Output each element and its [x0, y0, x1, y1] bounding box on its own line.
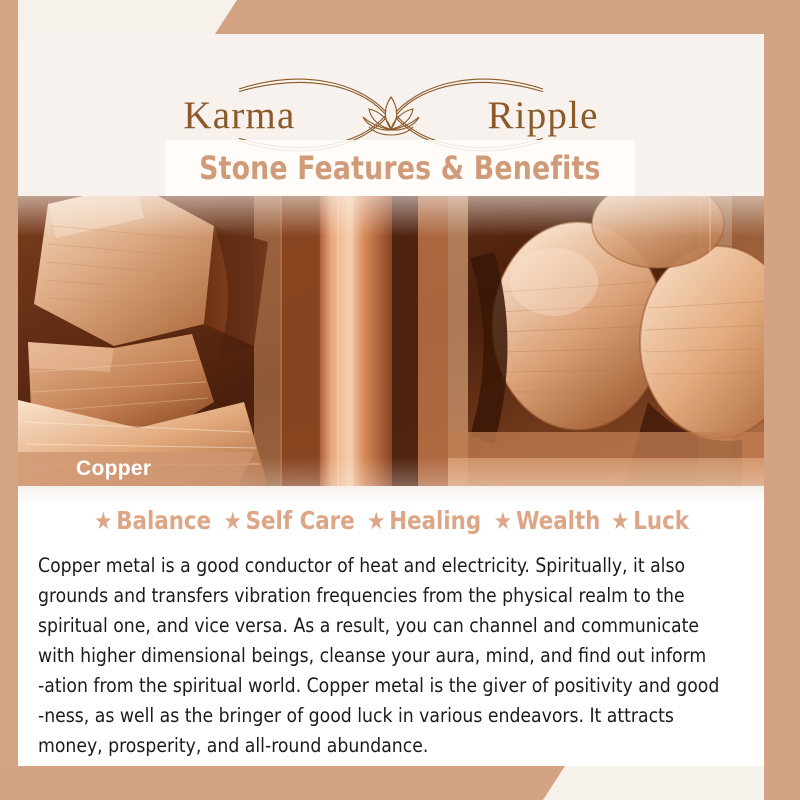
feature-label: Luck: [633, 506, 689, 535]
description-line: with higher dimensional beings, cleanse …: [38, 641, 735, 671]
brand-name: Karma Ripple: [181, 93, 601, 138]
product-info-card: Karma Ripple Stone Features & Benefits: [0, 0, 800, 800]
frame-bottom-accent: [0, 766, 565, 800]
description-line: Copper metal is a good conductor of heat…: [38, 551, 735, 581]
feature-item: ★ Luck: [611, 506, 689, 535]
description-line: grounds and transfers vibration frequenc…: [38, 581, 735, 611]
section-title-banner: Stone Features & Benefits: [165, 140, 635, 196]
feature-label: Healing: [390, 506, 482, 535]
feature-item: ★ Wealth: [493, 506, 600, 535]
star-icon: ★: [493, 509, 511, 533]
feature-label: Self Care: [246, 506, 355, 535]
star-icon: ★: [611, 509, 629, 533]
stone-name-label: Copper: [76, 457, 151, 481]
frame-top-accent: [215, 0, 800, 34]
frame-left-accent: [0, 0, 18, 800]
content-top-fade: [18, 486, 764, 504]
description-line: spiritual one, and vice versa. As a resu…: [38, 611, 735, 641]
feature-item: ★ Balance: [94, 506, 211, 535]
brand-name-second: Ripple: [487, 93, 598, 138]
description-text: Copper metal is a good conductor of heat…: [38, 551, 735, 761]
star-icon: ★: [367, 509, 385, 533]
star-icon: ★: [224, 509, 242, 533]
status-badge: Copper: [18, 452, 254, 486]
photo-vignette: [18, 196, 764, 486]
page-title: Stone Features & Benefits: [199, 149, 600, 187]
copper-bars-photo: [18, 196, 764, 486]
description-line: -ation from the spiritual world. Copper …: [38, 671, 735, 701]
description-line: money, prosperity, and all-round abundan…: [38, 731, 735, 761]
feature-list: ★ Balance ★ Self Care ★ Healing ★ Wealth…: [18, 506, 764, 535]
content-card: ★ Balance ★ Self Care ★ Healing ★ Wealth…: [18, 486, 764, 766]
frame-right-accent: [764, 0, 800, 800]
feature-item: ★ Self Care: [224, 506, 355, 535]
feature-label: Wealth: [516, 506, 600, 535]
brand-name-first: Karma: [183, 93, 295, 138]
star-icon: ★: [94, 509, 112, 533]
feature-item: ★ Healing: [367, 506, 481, 535]
feature-label: Balance: [116, 506, 211, 535]
description-line: -ness, as well as the bringer of good lu…: [38, 701, 735, 731]
